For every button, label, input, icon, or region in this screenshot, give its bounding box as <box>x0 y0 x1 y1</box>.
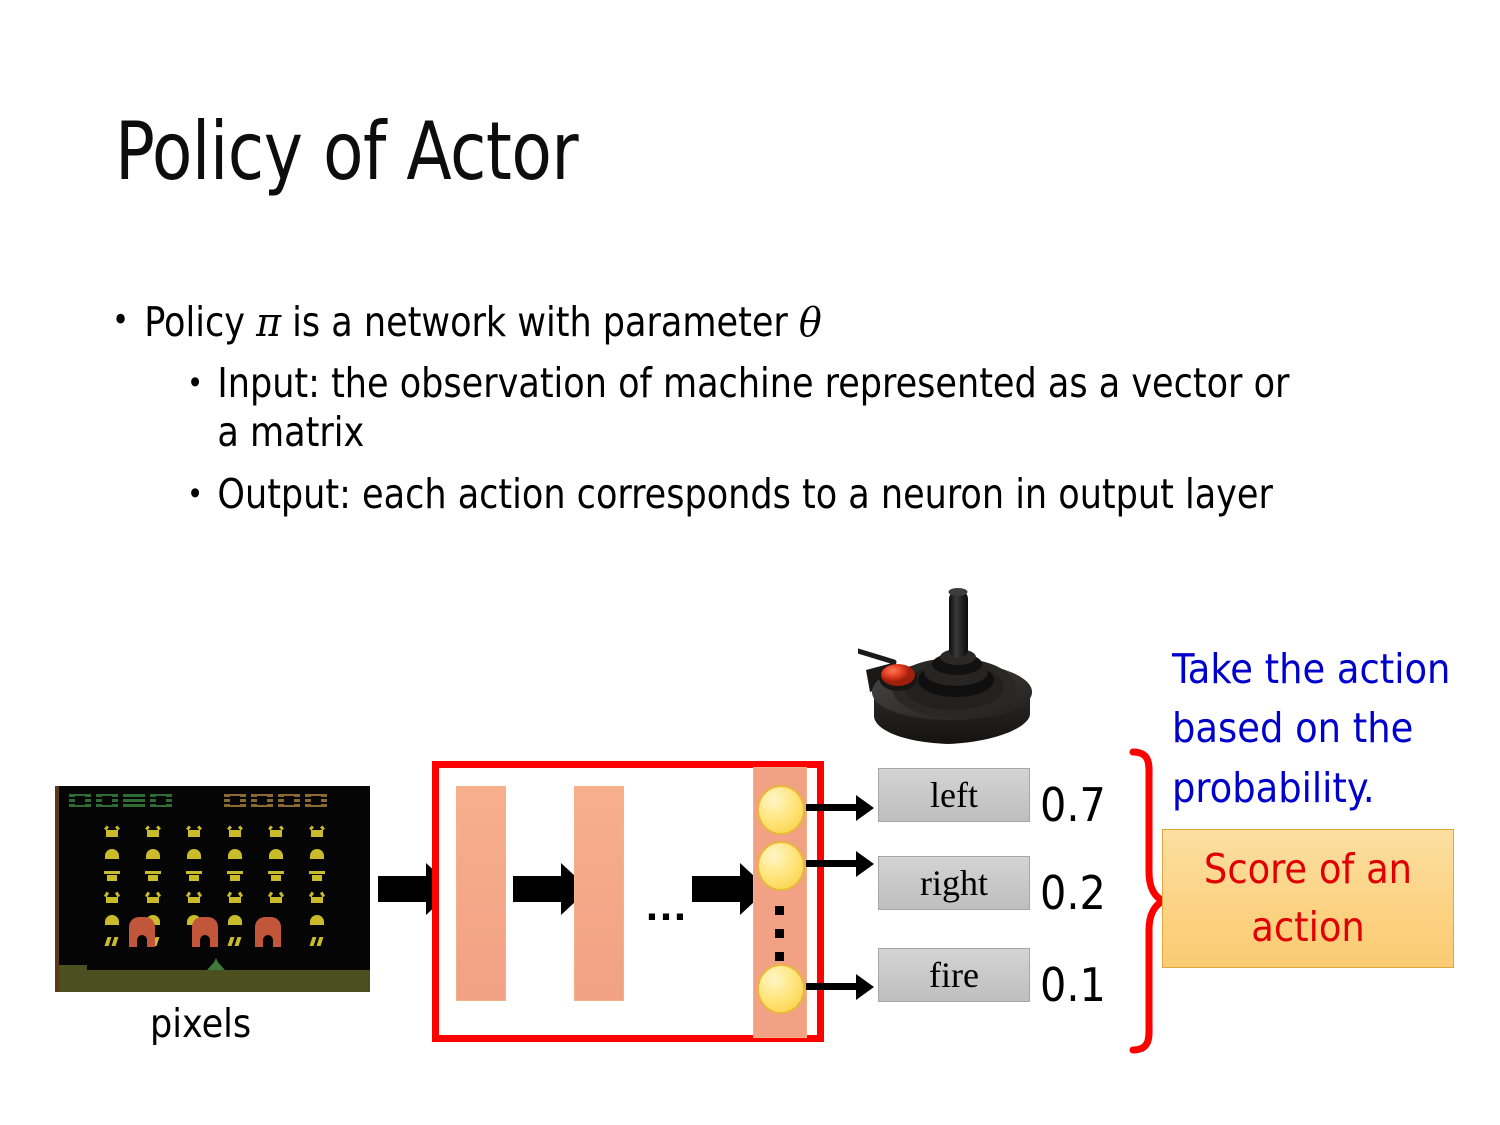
layer-arrow-icon <box>513 876 561 902</box>
output-neuron <box>757 964 805 1014</box>
hidden-layer-2 <box>574 786 624 1001</box>
player-ship <box>207 958 225 970</box>
vertical-ellipsis-dot <box>775 952 784 961</box>
output-arrow-icon <box>806 804 856 811</box>
atari-joystick-icon <box>858 588 1048 760</box>
alien-row <box>103 848 333 861</box>
score-of-action-callout: Score of an action <box>1162 829 1454 968</box>
action-box-fire[interactable]: fire <box>878 948 1030 1002</box>
input-arrow-icon <box>378 876 426 902</box>
pixels-caption: pixels <box>150 1002 251 1047</box>
layers-ellipsis: … <box>644 884 690 928</box>
space-invaders-screenshot <box>55 786 370 992</box>
alien-row <box>103 826 333 839</box>
score-of-action-label: Score of an action <box>1163 841 1453 956</box>
output-arrow-icon <box>806 860 856 867</box>
slide-canvas: Policy of Actor • Policy π is a network … <box>0 0 1500 1125</box>
alien-row <box>103 892 333 905</box>
action-box-left[interactable]: left <box>878 768 1030 822</box>
action-box-right[interactable]: right <box>878 856 1030 910</box>
take-action-note: Take the action based on the probability… <box>1172 640 1492 818</box>
ground-strip <box>59 970 370 992</box>
vertical-ellipsis-dot <box>775 906 784 915</box>
output-arrow-icon <box>806 983 856 990</box>
bunker <box>129 917 155 947</box>
bunker <box>255 917 281 947</box>
hidden-layer-1 <box>456 786 506 1001</box>
policy-network-diagram: pixels … left 0.7 right 0.2 fire 0.1 <box>0 0 1500 1125</box>
layer-arrow-icon <box>692 876 740 902</box>
red-brace-icon <box>1095 748 1165 1054</box>
vertical-ellipsis-dot <box>775 929 784 938</box>
atari-score-row <box>67 794 362 808</box>
output-neuron <box>757 785 805 835</box>
bunker <box>192 917 218 947</box>
alien-row <box>103 870 333 883</box>
output-neuron <box>757 841 805 891</box>
